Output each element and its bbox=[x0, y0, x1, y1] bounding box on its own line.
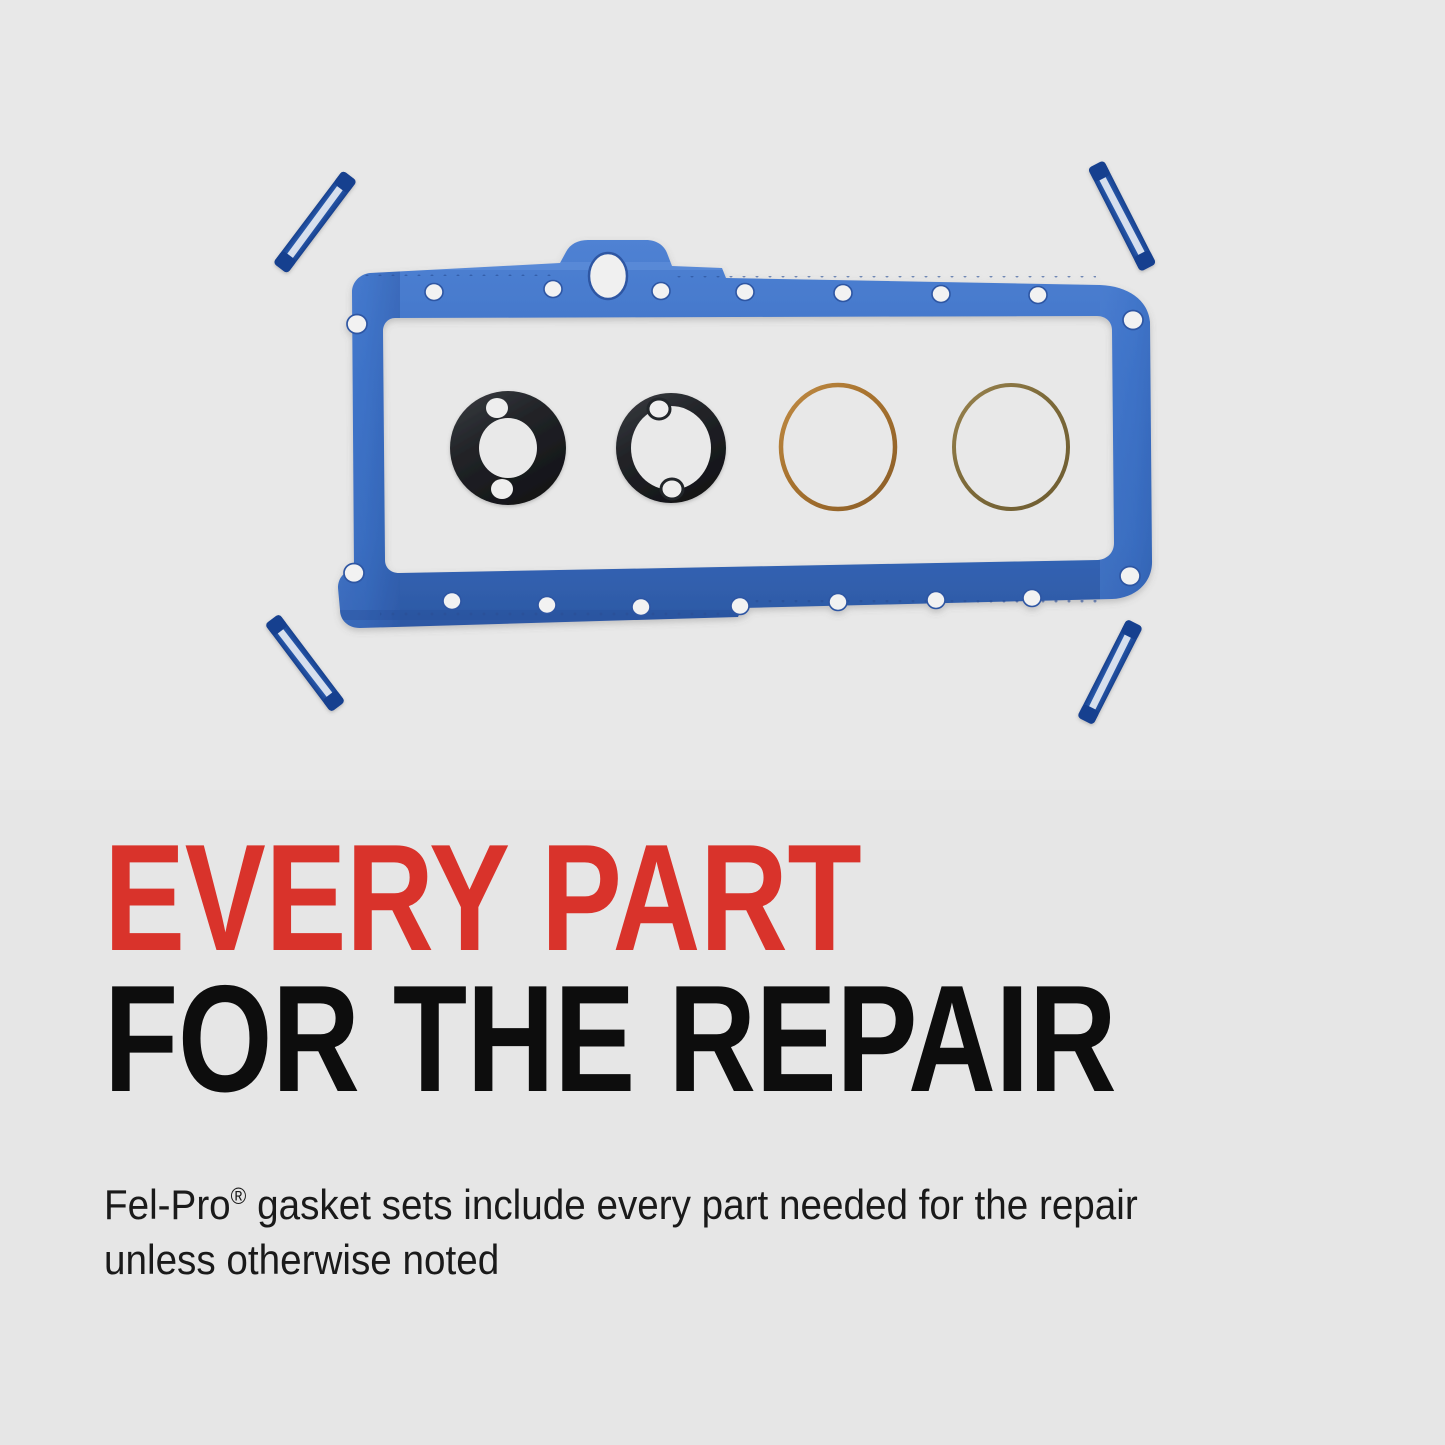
black-gasket-ring-thin bbox=[616, 393, 726, 503]
headline-line-2: FOR THE REPAIR bbox=[104, 971, 1104, 1108]
registered-trademark-icon: ® bbox=[231, 1183, 247, 1209]
gasket-center-oval-hole bbox=[589, 253, 627, 299]
subcopy-text: Fel-Pro® gasket sets include every part … bbox=[104, 1177, 1190, 1288]
product-illustration bbox=[0, 0, 1445, 790]
headline-block: EVERY PART FOR THE REPAIR bbox=[104, 830, 1354, 1108]
brand-name: Fel-Pro bbox=[104, 1181, 231, 1228]
product-marketing-image: EVERY PART FOR THE REPAIR Fel-Pro® gaske… bbox=[0, 0, 1445, 1445]
headline-line-1: EVERY PART bbox=[104, 830, 1104, 967]
product-photo bbox=[0, 0, 1445, 790]
black-gasket-ring-solid bbox=[450, 391, 566, 505]
subcopy-remainder: gasket sets include every part needed fo… bbox=[104, 1181, 1138, 1283]
